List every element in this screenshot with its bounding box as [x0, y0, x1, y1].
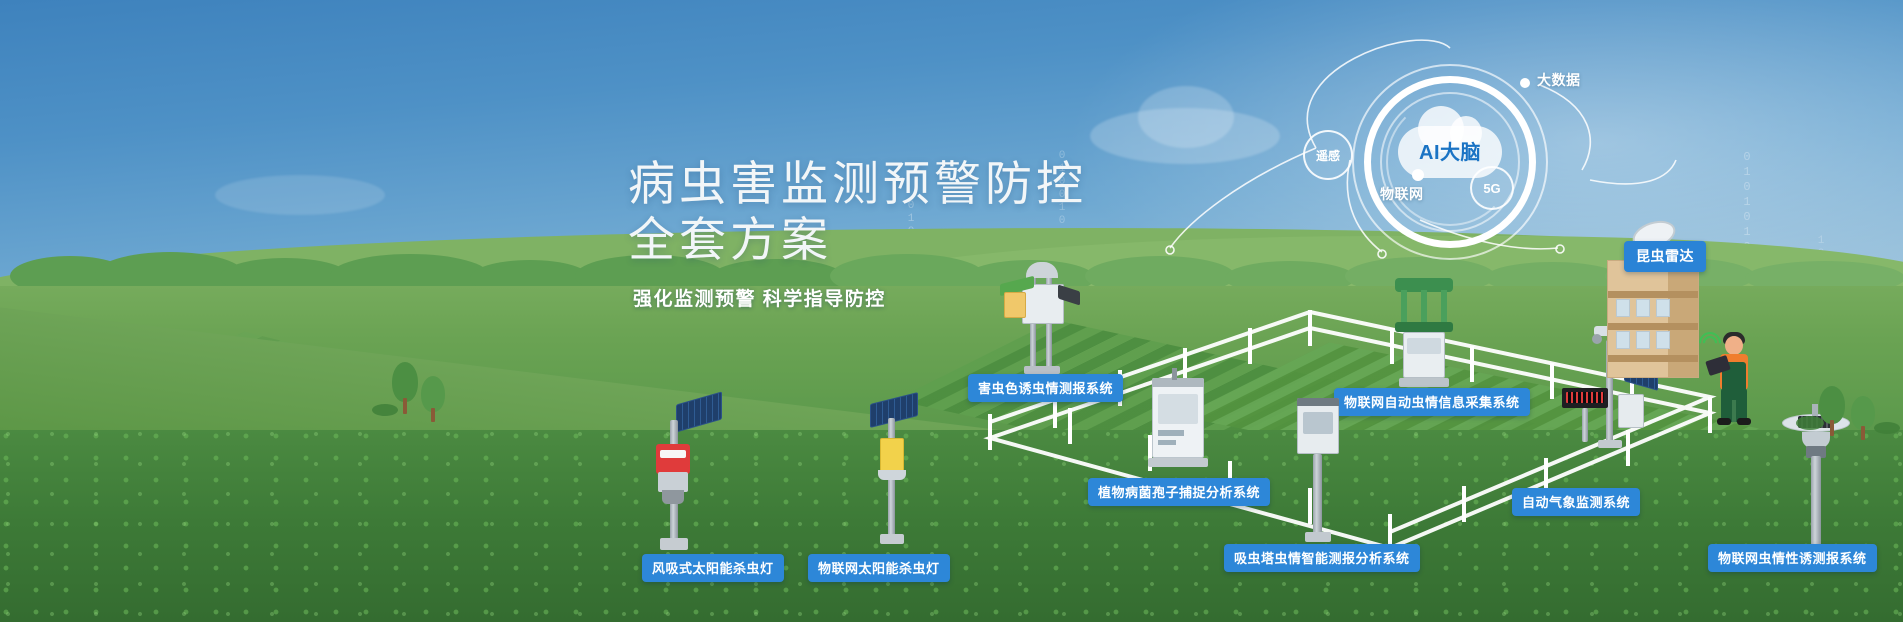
cloud-shape	[215, 175, 385, 215]
tag-auto-weather[interactable]: 自动气象监测系统	[1512, 488, 1640, 516]
building-window	[1616, 331, 1630, 349]
tag-insect-radar[interactable]: 昆虫雷达	[1624, 241, 1706, 272]
page-title-line2: 全套方案	[628, 212, 1087, 268]
pest-monitoring-banner: 0100010011010 010010001101 0100110100 01…	[0, 0, 1903, 622]
tree	[1816, 386, 1848, 436]
node-big-data-dot	[1520, 78, 1530, 88]
tree	[1848, 396, 1878, 442]
device-pest-color-lure	[1000, 262, 1080, 372]
building-window	[1636, 331, 1650, 349]
tag-wind-suction-lamp[interactable]: 风吸式太阳能杀虫灯	[642, 554, 784, 582]
tag-spore-capture[interactable]: 植物病菌孢子捕捉分析系统	[1088, 478, 1270, 506]
shrub	[1796, 416, 1824, 430]
building-band	[1608, 323, 1698, 330]
device-iot-solar-lamp	[858, 398, 934, 548]
shrub	[1874, 422, 1900, 434]
worker-shoe	[1717, 418, 1731, 425]
building-window	[1636, 299, 1650, 317]
building-band	[1608, 355, 1698, 362]
node-remote-sensing-label: 遥感	[1316, 147, 1340, 164]
node-5g-label: 5G	[1483, 181, 1500, 196]
tag-iot-pheromone[interactable]: 物联网虫情性诱测报系统	[1708, 544, 1877, 572]
node-iot-dot	[1412, 169, 1424, 181]
node-big-data-label: 大数据	[1537, 70, 1581, 90]
tag-iot-auto-pest-info[interactable]: 物联网自动虫情信息采集系统	[1334, 388, 1530, 416]
node-iot-label: 物联网	[1380, 184, 1424, 204]
tag-suction-tower[interactable]: 吸虫塔虫情智能测报分析系统	[1224, 544, 1420, 572]
worker-shoe	[1737, 418, 1751, 425]
building-band	[1608, 291, 1698, 298]
device-suction-tower	[1285, 398, 1351, 544]
insect-radar-building	[1607, 260, 1699, 378]
worker-leg-gap	[1732, 400, 1736, 422]
shrub	[372, 404, 398, 416]
building-window	[1616, 299, 1630, 317]
node-5g[interactable]: 5G	[1470, 166, 1514, 210]
node-remote-sensing[interactable]: 遥感	[1303, 130, 1353, 180]
tag-iot-solar-lamp[interactable]: 物联网太阳能杀虫灯	[808, 554, 950, 582]
building-window	[1656, 331, 1670, 349]
device-iot-auto-pest-info	[1385, 278, 1463, 390]
ai-core-label: AI大脑	[1398, 136, 1502, 165]
device-spore-capture	[1146, 378, 1212, 474]
tag-pest-color-lure[interactable]: 害虫色诱虫情测报系统	[968, 374, 1123, 402]
device-wind-suction-lamp	[648, 398, 726, 554]
worker-head	[1725, 336, 1743, 355]
tree	[418, 376, 448, 422]
field-worker	[1711, 330, 1757, 426]
page-title-line1: 病虫害监测预警防控	[628, 156, 1087, 212]
building-window	[1656, 299, 1670, 317]
